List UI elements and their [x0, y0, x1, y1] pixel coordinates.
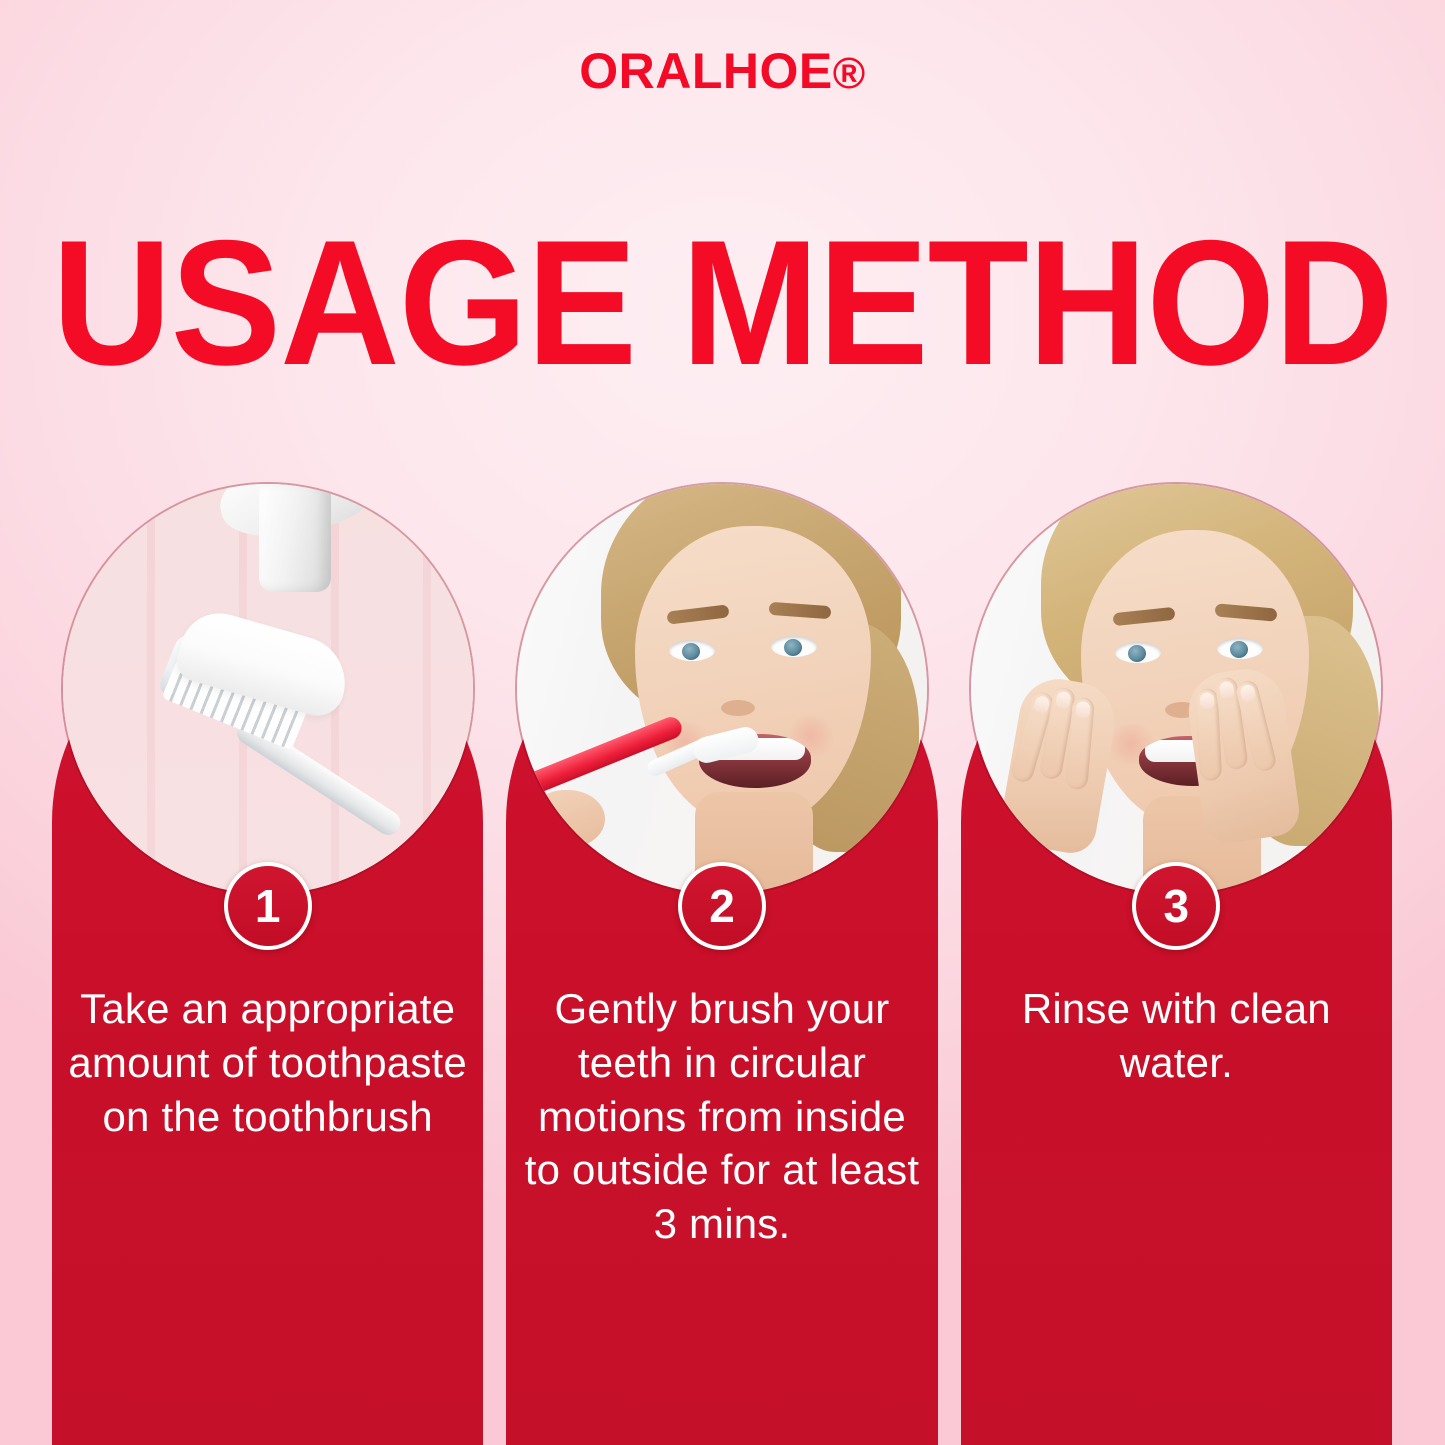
nose: [721, 700, 755, 716]
step-2-photo: [517, 484, 927, 894]
registered-trademark-icon: ®: [833, 49, 866, 98]
steps-row: 1 Take an appropriate amount of toothpas…: [52, 612, 1392, 1445]
eye-left: [669, 640, 715, 661]
step-caption-2: Gently brush your teeth in circular moti…: [522, 982, 921, 1251]
eye-right: [1217, 638, 1263, 659]
iris-left: [682, 643, 700, 660]
step-caption-3: Rinse with clean water.: [977, 982, 1376, 1090]
fingernail: [1033, 695, 1051, 714]
fingernail: [1076, 701, 1091, 718]
portrait-brushing-teeth: [517, 484, 927, 894]
step-1-photo: [63, 484, 473, 894]
step-number-badge-2: 2: [678, 862, 766, 950]
step-card-3: 3 Rinse with clean water.: [961, 612, 1392, 1445]
step-number-badge-1: 1: [224, 862, 312, 950]
toothpaste-tube-cap: [259, 484, 331, 592]
brand-logo: ORALHOE®: [0, 46, 1445, 96]
step-card-1: 1 Take an appropriate amount of toothpas…: [52, 612, 483, 1445]
step-caption-1: Take an appropriate amount of toothpaste…: [68, 982, 467, 1143]
step-3-photo: [971, 484, 1381, 894]
fingernail: [1219, 681, 1235, 699]
page-title: USAGE METHOD: [51, 214, 1395, 392]
fingernail: [1239, 683, 1256, 702]
iris-left: [1128, 645, 1146, 662]
iris-right: [784, 639, 802, 656]
fingernail: [1200, 692, 1215, 709]
fingernail: [1055, 691, 1072, 709]
portrait-clean-face: [971, 484, 1381, 894]
hand-thumb: [531, 790, 605, 848]
infographic-canvas: ORALHOE® USAGE METHOD 1 Take an appropri…: [0, 0, 1445, 1445]
eye-left: [1115, 642, 1161, 663]
bathroom-tile-background: [63, 484, 473, 894]
step-number-badge-3: 3: [1132, 862, 1220, 950]
brand-name: ORALHOE: [579, 43, 833, 99]
iris-right: [1230, 641, 1248, 658]
eye-right: [771, 636, 817, 657]
step-card-2: 2 Gently brush your teeth in circular mo…: [506, 612, 937, 1445]
